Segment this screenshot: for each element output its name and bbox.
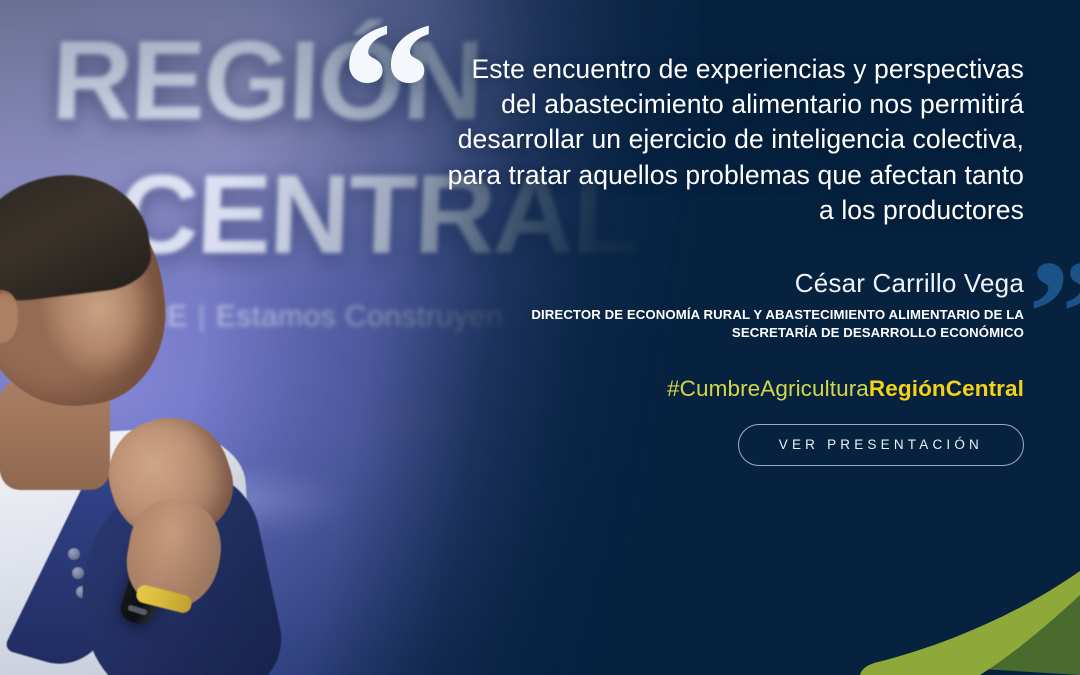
hashtag-light-part: #CumbreAgricultura: [667, 376, 869, 401]
quote-text: Este encuentro de experiencias y perspec…: [444, 52, 1024, 228]
opening-quote-icon: “: [340, 0, 435, 184]
speaker-role: DIRECTOR DE ECONOMÍA RURAL Y ABASTECIMIE…: [444, 306, 1024, 342]
hashtag: #CumbreAgriculturaRegiónCentral: [444, 376, 1024, 402]
green-swoosh-decoration: [820, 565, 1080, 675]
closing-quote-icon: ”: [1028, 238, 1080, 388]
cta-container: VER PRESENTACIÓN: [444, 424, 1024, 466]
speaker-name: César Carrillo Vega: [444, 268, 1024, 299]
ver-presentacion-button[interactable]: VER PRESENTACIÓN: [738, 424, 1024, 466]
quote-slide: REGIÓN CENTRAL RE|Estamos Construyen: [0, 0, 1080, 675]
quote-content-block: Este encuentro de experiencias y perspec…: [444, 52, 1024, 466]
hashtag-bold-part: RegiónCentral: [869, 376, 1024, 401]
